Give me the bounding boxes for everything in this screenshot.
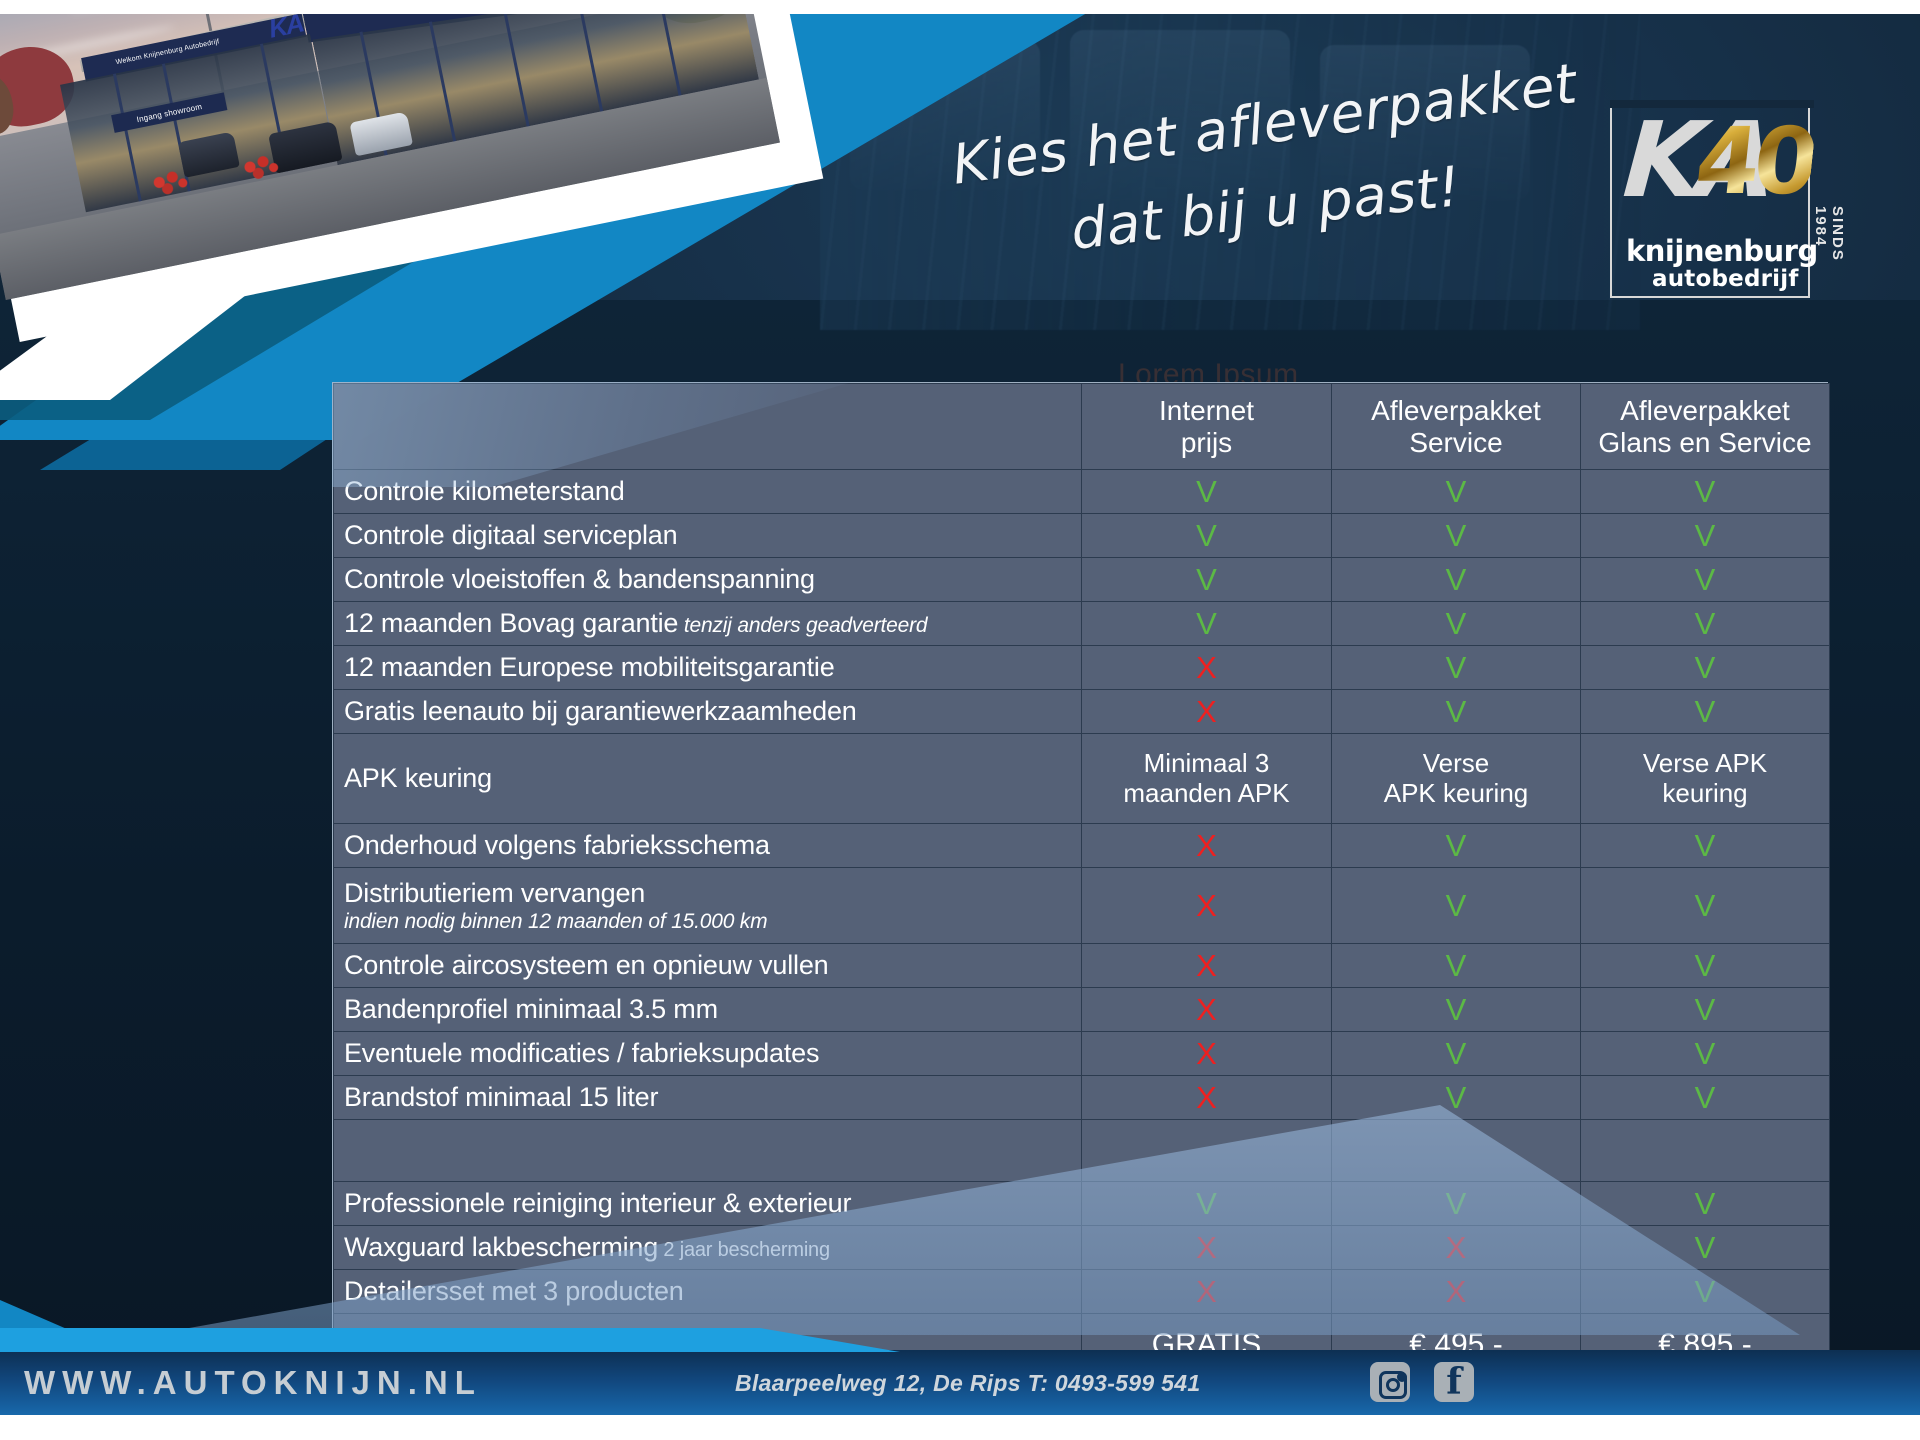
- row-label: APK keuring: [334, 734, 1082, 824]
- row-label: Detailersset met 3 producten: [334, 1270, 1082, 1314]
- cell-afleverpakket-glans-service: V: [1581, 470, 1830, 514]
- cell-afleverpakket-service: V: [1332, 514, 1581, 558]
- cell-afleverpakket-glans-service: V: [1581, 1032, 1830, 1076]
- table-header-row: Internet prijs Afleverpakket Service Afl…: [334, 384, 1830, 470]
- cell-line: Minimaal 3: [1144, 748, 1270, 778]
- row-label: Professionele reiniging interieur & exte…: [334, 1182, 1082, 1226]
- cell-afleverpakket-glans-service: V: [1581, 602, 1830, 646]
- table-row: Gratis leenauto bij garantiewerkzaamhede…: [334, 690, 1830, 734]
- cell-afleverpakket-glans-service: [1581, 1120, 1830, 1182]
- row-label-note: 2 jaar bescherming: [658, 1239, 830, 1261]
- cell-internet-prijs: X: [1082, 646, 1332, 690]
- row-label: Waxguard lakbescherming 2 jaar beschermi…: [334, 1226, 1082, 1270]
- table-row: Controle vloeistoffen & bandenspanningVV…: [334, 558, 1830, 602]
- header-line-2: prijs: [1181, 427, 1232, 458]
- cell-afleverpakket-service: X: [1332, 1270, 1581, 1314]
- table-row: Professionele reiniging interieur & exte…: [334, 1182, 1830, 1226]
- cell-afleverpakket-glans-service: V: [1581, 1270, 1830, 1314]
- cell-afleverpakket-service: V: [1332, 558, 1581, 602]
- header-line-2: Glans en Service: [1598, 427, 1811, 458]
- cell-afleverpakket-glans-service: V: [1581, 1182, 1830, 1226]
- company-logo: KA 40 knijnenburg autobedrijf SINDS 1984: [1600, 98, 1830, 298]
- bottom-white-strip: [0, 1415, 1920, 1440]
- cell-afleverpakket-service: V: [1332, 602, 1581, 646]
- table-row: Controle digitaal serviceplanVVV: [334, 514, 1830, 558]
- header-line-1: Afleverpakket: [1371, 395, 1541, 426]
- row-label-note: tenzij anders geadverteerd: [678, 614, 927, 637]
- cell-afleverpakket-glans-service: V: [1581, 690, 1830, 734]
- cell-afleverpakket-service: V: [1332, 690, 1581, 734]
- row-label-text: Controle aircosysteem en opnieuw vullen: [344, 950, 828, 980]
- cell-afleverpakket-glans-service: V: [1581, 1226, 1830, 1270]
- cell-afleverpakket-service: V: [1332, 1182, 1581, 1226]
- cell-internet-prijs: X: [1082, 988, 1332, 1032]
- row-label: Controle vloeistoffen & bandenspanning: [334, 558, 1082, 602]
- table-header-afleverpakket-glans-service: Afleverpakket Glans en Service: [1581, 384, 1830, 470]
- cell-afleverpakket-glans-service: V: [1581, 558, 1830, 602]
- header-line-1: Internet: [1159, 395, 1254, 426]
- cell-afleverpakket-service: X: [1332, 1226, 1581, 1270]
- row-label: Controle kilometerstand: [334, 470, 1082, 514]
- footer-website-url[interactable]: WWW.AUTOKNIJN.NL: [24, 1364, 482, 1402]
- cell-line: maanden APK: [1123, 778, 1289, 808]
- table-row: Brandstof minimaal 15 literXVV: [334, 1076, 1830, 1120]
- cell-internet-prijs: V: [1082, 602, 1332, 646]
- cell-internet-prijs: X: [1082, 944, 1332, 988]
- row-label-text: Controle kilometerstand: [344, 476, 625, 506]
- table-row: Onderhoud volgens fabrieksschemaXVV: [334, 824, 1830, 868]
- header-line-1: Afleverpakket: [1620, 395, 1790, 426]
- logo-anniversary-40: 40: [1691, 116, 1817, 208]
- cell-internet-prijs: X: [1082, 690, 1332, 734]
- table-row: [334, 1120, 1830, 1182]
- row-label-text: 12 maanden Europese mobiliteitsgarantie: [344, 652, 835, 682]
- row-label: Bandenprofiel minimaal 3.5 mm: [334, 988, 1082, 1032]
- table-row: Controle aircosysteem en opnieuw vullenX…: [334, 944, 1830, 988]
- cell-internet-prijs: X: [1082, 1270, 1332, 1314]
- cell-afleverpakket-glans-service: V: [1581, 824, 1830, 868]
- row-label-text: Waxguard lakbescherming: [344, 1232, 658, 1262]
- row-label: Brandstof minimaal 15 liter: [334, 1076, 1082, 1120]
- cell-afleverpakket-glans-service: V: [1581, 944, 1830, 988]
- row-label-text: Controle digitaal serviceplan: [344, 520, 677, 550]
- row-label-subnote: indien nodig binnen 12 maanden of 15.000…: [344, 910, 1071, 934]
- row-label-text: Distributieriem vervangen: [344, 878, 645, 908]
- cell-line: Verse APK: [1643, 748, 1767, 778]
- logo-since-text: SINDS 1984: [1812, 206, 1846, 298]
- cell-internet-prijs: X: [1082, 1226, 1332, 1270]
- table-header-blank: [334, 384, 1082, 470]
- row-label: Controle aircosysteem en opnieuw vullen: [334, 944, 1082, 988]
- cell-afleverpakket-glans-service: Verse APKkeuring: [1581, 734, 1830, 824]
- cell-line: keuring: [1662, 778, 1747, 808]
- row-label: Onderhoud volgens fabrieksschema: [334, 824, 1082, 868]
- cell-internet-prijs: V: [1082, 558, 1332, 602]
- instagram-icon[interactable]: [1370, 1362, 1410, 1402]
- cell-afleverpakket-service: V: [1332, 868, 1581, 944]
- cell-afleverpakket-service: V: [1332, 824, 1581, 868]
- facebook-glyph: f: [1434, 1360, 1474, 1404]
- row-label-text: Gratis leenauto bij garantiewerkzaamhede…: [344, 696, 857, 726]
- logo-company-subtitle: autobedrijf: [1652, 266, 1799, 292]
- row-label: Gratis leenauto bij garantiewerkzaamhede…: [334, 690, 1082, 734]
- row-label-text: Professionele reiniging interieur & exte…: [344, 1188, 851, 1218]
- footer-address-phone: Blaarpeelweg 12, De Rips T: 0493-599 541: [735, 1370, 1200, 1397]
- cell-afleverpakket-service: V: [1332, 1032, 1581, 1076]
- cell-afleverpakket-service: V: [1332, 988, 1581, 1032]
- cell-afleverpakket-service: [1332, 1120, 1581, 1182]
- cell-afleverpakket-service: VerseAPK keuring: [1332, 734, 1581, 824]
- cell-afleverpakket-glans-service: V: [1581, 646, 1830, 690]
- row-label: 12 maanden Europese mobiliteitsgarantie: [334, 646, 1082, 690]
- row-label-text: APK keuring: [344, 763, 492, 793]
- package-comparison-table: Internet prijs Afleverpakket Service Afl…: [332, 382, 1828, 1377]
- cell-afleverpakket-service: V: [1332, 944, 1581, 988]
- table-row: Detailersset met 3 productenXXV: [334, 1270, 1830, 1314]
- cell-afleverpakket-glans-service: V: [1581, 868, 1830, 944]
- cell-internet-prijs: X: [1082, 1076, 1332, 1120]
- header-line-2: Service: [1409, 427, 1502, 458]
- row-label-text: Controle vloeistoffen & bandenspanning: [344, 564, 815, 594]
- cell-afleverpakket-glans-service: V: [1581, 988, 1830, 1032]
- poster-canvas: Welkom Knijnenburg Autobedrijf KA knijne…: [0, 0, 1920, 1440]
- cell-internet-prijs: [1082, 1120, 1332, 1182]
- row-label-text: 12 maanden Bovag garantie: [344, 608, 678, 638]
- table-header-internet-prijs: Internet prijs: [1082, 384, 1332, 470]
- cell-afleverpakket-service: V: [1332, 470, 1581, 514]
- table-row: 12 maanden Europese mobiliteitsgarantieX…: [334, 646, 1830, 690]
- cell-internet-prijs: V: [1082, 514, 1332, 558]
- cell-line: APK keuring: [1384, 778, 1529, 808]
- cell-afleverpakket-glans-service: V: [1581, 514, 1830, 558]
- table-row: APK keuringMinimaal 3maanden APKVerseAPK…: [334, 734, 1830, 824]
- table-row: Eventuele modificaties / fabrieksupdates…: [334, 1032, 1830, 1076]
- table-row: 12 maanden Bovag garantie tenzij anders …: [334, 602, 1830, 646]
- row-label-text: Onderhoud volgens fabrieksschema: [344, 830, 770, 860]
- cell-line: Verse: [1423, 748, 1490, 778]
- row-label-text: Eventuele modificaties / fabrieksupdates: [344, 1038, 819, 1068]
- table-header-afleverpakket-service: Afleverpakket Service: [1332, 384, 1581, 470]
- row-label: Controle digitaal serviceplan: [334, 514, 1082, 558]
- row-label: [334, 1120, 1082, 1182]
- cell-internet-prijs: X: [1082, 868, 1332, 944]
- row-label: Distributieriem vervangenindien nodig bi…: [334, 868, 1082, 944]
- row-label-text: Detailersset met 3 producten: [344, 1276, 684, 1306]
- cell-internet-prijs: Minimaal 3maanden APK: [1082, 734, 1332, 824]
- cell-afleverpakket-service: V: [1332, 1076, 1581, 1120]
- table-row: Controle kilometerstandVVV: [334, 470, 1830, 514]
- table-row: Waxguard lakbescherming 2 jaar beschermi…: [334, 1226, 1830, 1270]
- top-white-strip: [0, 0, 1920, 14]
- cell-internet-prijs: V: [1082, 470, 1332, 514]
- row-label: 12 maanden Bovag garantie tenzij anders …: [334, 602, 1082, 646]
- row-label-text: Bandenprofiel minimaal 3.5 mm: [344, 994, 718, 1024]
- cell-afleverpakket-service: V: [1332, 646, 1581, 690]
- row-label: Eventuele modificaties / fabrieksupdates: [334, 1032, 1082, 1076]
- logo-company-name: knijnenburg: [1626, 234, 1818, 268]
- table-row: Distributieriem vervangenindien nodig bi…: [334, 868, 1830, 944]
- table-body: Controle kilometerstandVVVControle digit…: [334, 470, 1830, 1376]
- cell-internet-prijs: X: [1082, 824, 1332, 868]
- table-row: Bandenprofiel minimaal 3.5 mmXVV: [334, 988, 1830, 1032]
- cell-internet-prijs: V: [1082, 1182, 1332, 1226]
- footer-bar: WWW.AUTOKNIJN.NL Blaarpeelweg 12, De Rip…: [0, 1350, 1920, 1415]
- facebook-icon[interactable]: f: [1434, 1362, 1474, 1402]
- cell-afleverpakket-glans-service: V: [1581, 1076, 1830, 1120]
- row-label-text: Brandstof minimaal 15 liter: [344, 1082, 658, 1112]
- footer-accent-wedge: [0, 1328, 900, 1352]
- cell-internet-prijs: X: [1082, 1032, 1332, 1076]
